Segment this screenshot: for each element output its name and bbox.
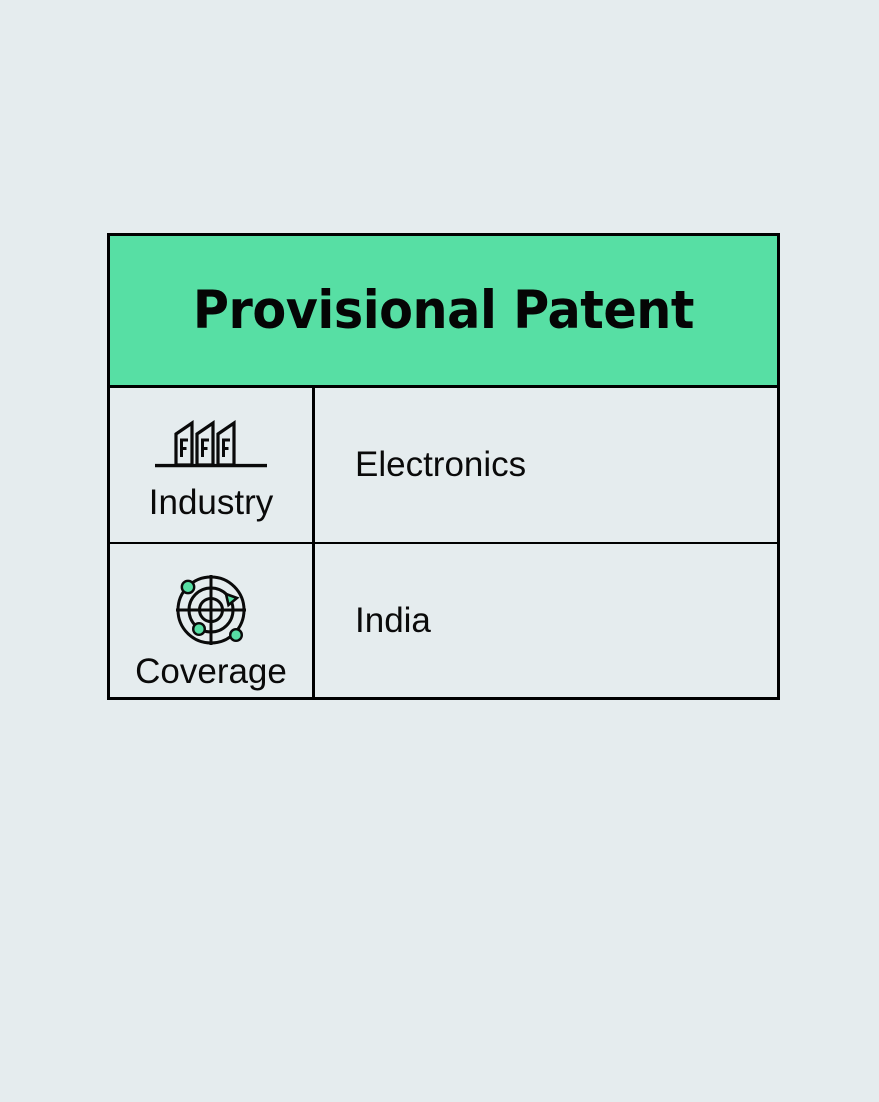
row-label-cell-coverage: Coverage xyxy=(110,544,315,698)
row-value-cell-industry: Electronics xyxy=(315,388,777,542)
row-label-coverage: Coverage xyxy=(135,654,287,689)
provisional-patent-card: Provisional Patent xyxy=(107,233,780,700)
row-label-industry: Industry xyxy=(149,485,274,520)
table-row: Industry Electronics xyxy=(110,388,777,544)
page-title: Provisional Patent xyxy=(193,284,694,337)
row-value-coverage: India xyxy=(355,603,431,638)
radar-icon xyxy=(173,572,249,648)
table-row: Coverage India xyxy=(110,544,777,698)
row-label-cell-industry: Industry xyxy=(110,388,315,542)
row-value-industry: Electronics xyxy=(355,447,526,482)
row-value-cell-coverage: India xyxy=(315,544,777,698)
card-header: Provisional Patent xyxy=(110,236,777,388)
factory-icon xyxy=(152,418,270,473)
